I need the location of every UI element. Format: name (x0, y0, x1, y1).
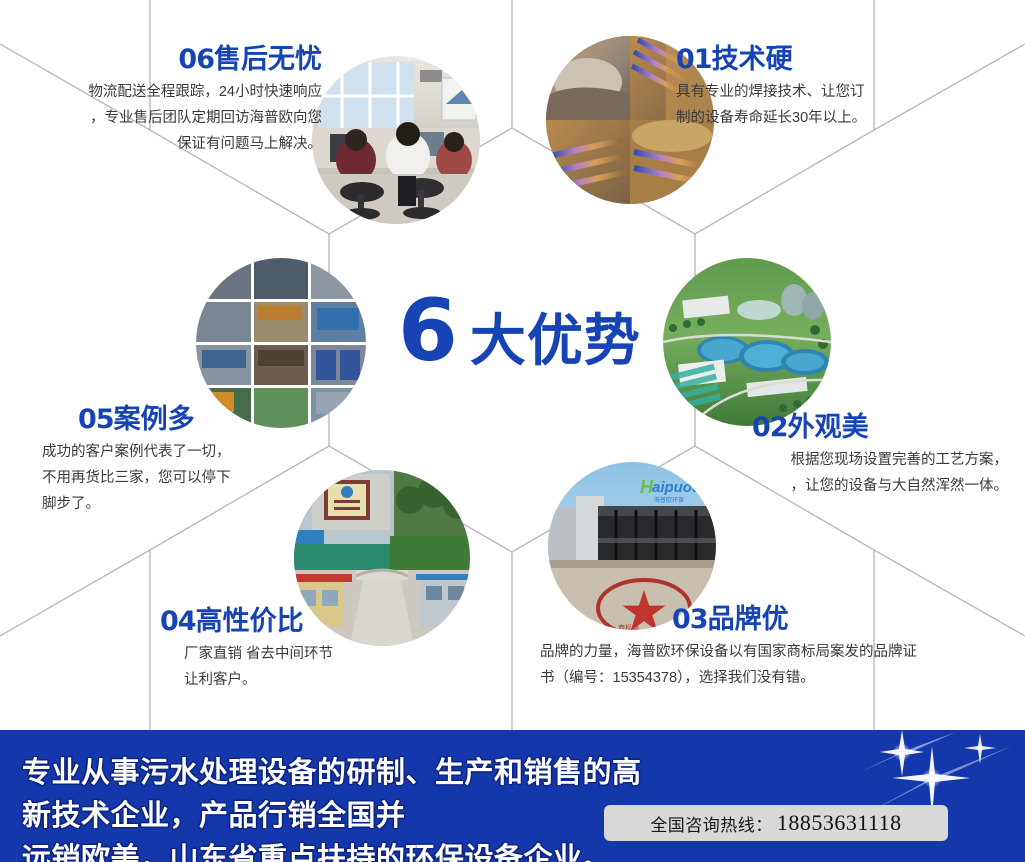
photo-06-art (312, 56, 480, 224)
center-number: 6 (398, 288, 456, 374)
feature-02-body: 根据您现场设置完善的工艺方案， ，让您的设备与大自然浑然一体。 (690, 447, 1008, 499)
feature-04-line-1: 厂家直销 省去中间环节 (184, 641, 450, 667)
feature-block-06: 06售后无忧 物流配送全程跟踪，24小时快速响应 ，专业售后团队定期回访海普欧向… (16, 44, 322, 157)
feature-03-body: 品牌的力量，海普欧环保设备以有国家商标局案发的品牌证 书（编号：15354378… (540, 639, 1020, 691)
feature-02-number: 02 (752, 412, 788, 443)
feature-02-title: 外观美 (788, 412, 869, 442)
feature-05-heading: 05案例多 (78, 404, 342, 435)
photo-circle-05 (196, 258, 366, 428)
photo-circle-06 (312, 56, 480, 224)
feature-04-body: 厂家直销 省去中间环节 让利客户。 (184, 641, 450, 693)
feature-03-title: 品牌优 (708, 604, 789, 634)
infographic-root: 6 大优势 (0, 0, 1025, 862)
svg-text:海普欧环保: 海普欧环保 (654, 496, 684, 504)
feature-block-02: 02外观美 根据您现场设置完善的工艺方案， ，让您的设备与大自然浑然一体。 (690, 412, 1008, 499)
feature-01-title: 技术硬 (712, 44, 793, 74)
feature-05-body: 成功的客户案例代表了一切， 不用再货比三家，您可以停下 脚步了。 (42, 439, 342, 517)
photo-02-art (663, 258, 831, 426)
hotline-label: 全国咨询热线： (650, 811, 773, 836)
feature-06-line-3: 保证有问题马上解决。 (16, 131, 322, 157)
feature-04-number: 04 (160, 606, 196, 637)
banner-text: 专业从事污水处理设备的研制、生产和销售的高新技术企业，产品行销全国并 远销欧美，… (22, 752, 642, 862)
feature-06-line-2: ，专业售后团队定期回访海普欧向您 (16, 105, 322, 131)
hotline-pill[interactable]: 全国咨询热线： 18853631118 (604, 805, 948, 841)
feature-01-heading: 01技术硬 (676, 44, 1006, 75)
feature-block-04: 04高性价比 厂家直销 省去中间环节 让利客户。 (160, 606, 450, 693)
feature-06-title: 售后无忧 (214, 44, 322, 74)
feature-01-line-2: 制的设备寿命延长30年以上。 (676, 105, 1006, 131)
sparkle-decoration (860, 730, 1025, 862)
photo-circle-02 (663, 258, 831, 426)
feature-03-heading: 03品牌优 (672, 604, 1020, 635)
hotline-number: 18853631118 (777, 810, 902, 836)
banner-line-1: 专业从事污水处理设备的研制、生产和销售的高新技术企业，产品行销全国并 (22, 752, 642, 838)
feature-block-01: 01技术硬 具有专业的焊接技术、让您订 制的设备寿命延长30年以上。 (676, 44, 1006, 131)
feature-06-line-1: 物流配送全程跟踪，24小时快速响应 (16, 79, 322, 105)
feature-02-line-1: 根据您现场设置完善的工艺方案， (690, 447, 1008, 473)
feature-06-heading: 06售后无忧 (16, 44, 322, 75)
feature-01-number: 01 (676, 44, 712, 75)
center-suffix: 大优势 (470, 312, 641, 370)
feature-03-number: 03 (672, 604, 708, 635)
feature-06-number: 06 (178, 44, 214, 75)
photo-05-art (196, 258, 366, 428)
banner-line-2: 远销欧美，山东省重点扶持的环保设备企业。 (22, 838, 642, 862)
feature-05-line-3: 脚步了。 (42, 491, 342, 517)
svg-text:H: H (640, 477, 654, 497)
feature-05-line-1: 成功的客户案例代表了一切， (42, 439, 342, 465)
feature-02-line-2: ，让您的设备与大自然浑然一体。 (690, 473, 1008, 499)
feature-04-line-2: 让利客户。 (184, 667, 450, 693)
feature-05-title: 案例多 (114, 404, 195, 434)
feature-01-body: 具有专业的焊接技术、让您订 制的设备寿命延长30年以上。 (676, 79, 1006, 131)
feature-block-03: 03品牌优 品牌的力量，海普欧环保设备以有国家商标局案发的品牌证 书（编号：15… (540, 604, 1020, 691)
spoke-upper-right (695, 130, 874, 234)
feature-03-line-2: 书（编号：15354378），选择我们没有错。 (540, 665, 1020, 691)
feature-block-05: 05案例多 成功的客户案例代表了一切， 不用再货比三家，您可以停下 脚步了。 (42, 404, 342, 517)
feature-06-body: 物流配送全程跟踪，24小时快速响应 ，专业售后团队定期回访海普欧向您 保证有问题… (16, 79, 322, 157)
feature-04-heading: 04高性价比 (160, 606, 450, 637)
feature-05-line-2: 不用再货比三家，您可以停下 (42, 465, 342, 491)
feature-01-line-1: 具有专业的焊接技术、让您订 (676, 79, 1006, 105)
bottom-banner: 专业从事污水处理设备的研制、生产和销售的高新技术企业，产品行销全国并 远销欧美，… (0, 730, 1025, 862)
feature-02-heading: 02外观美 (752, 412, 1008, 443)
feature-03-line-1: 品牌的力量，海普欧环保设备以有国家商标局案发的品牌证 (540, 639, 1020, 665)
feature-05-number: 05 (78, 404, 114, 435)
feature-04-title: 高性价比 (196, 606, 304, 636)
center-title: 6 大优势 (398, 288, 641, 374)
outer-edge-bl-out (0, 550, 150, 636)
